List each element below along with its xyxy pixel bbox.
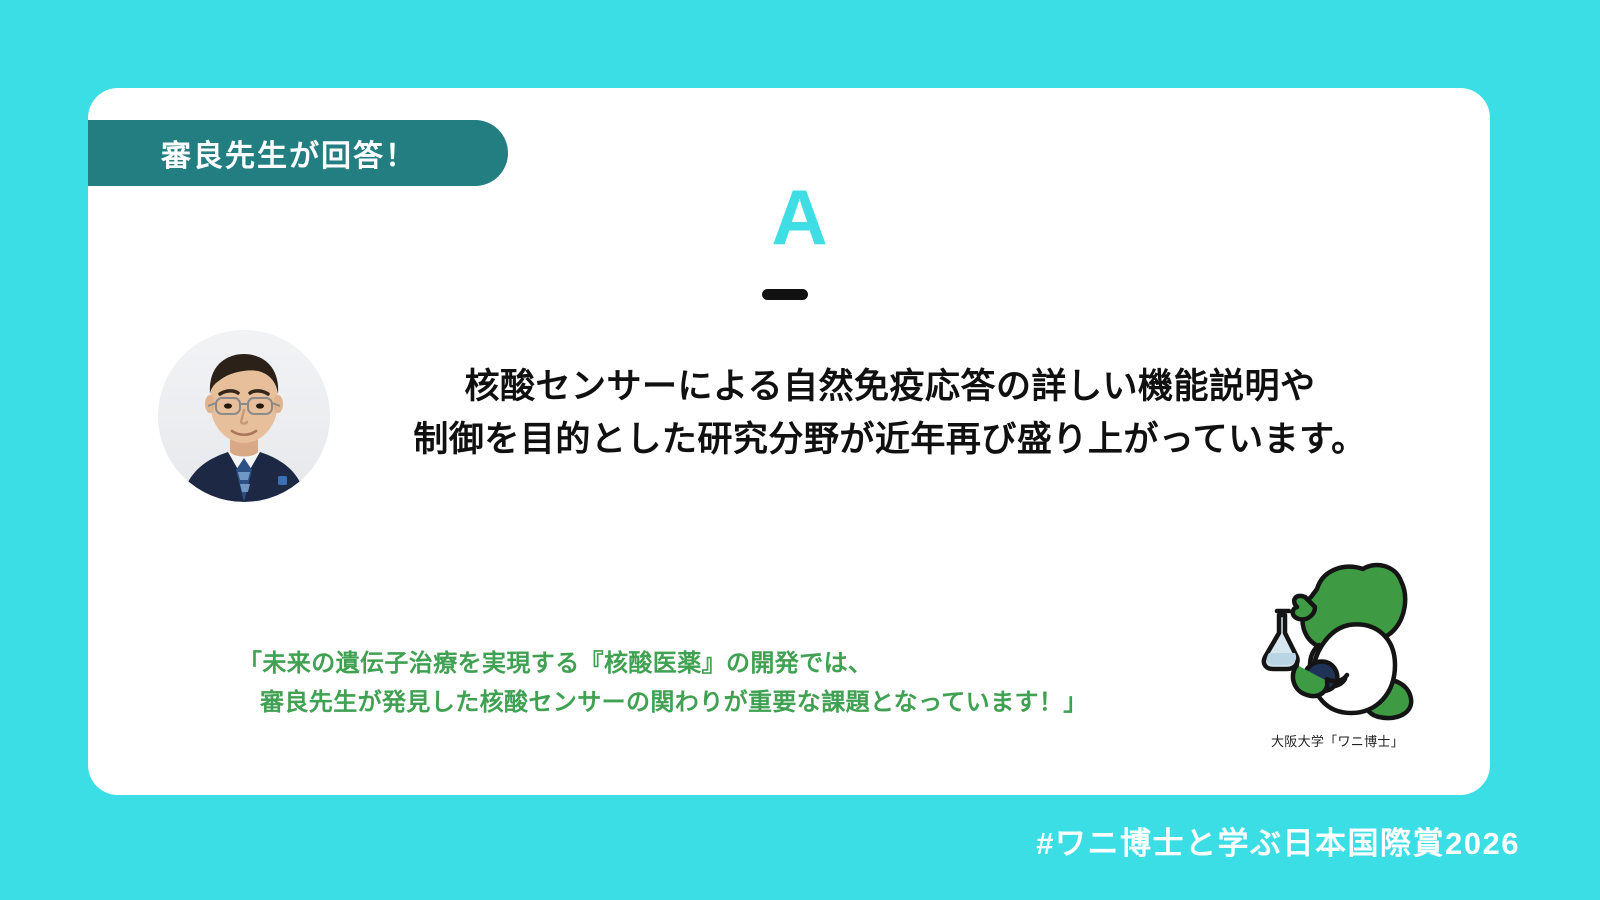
answer-letter: A: [0, 178, 1600, 256]
avatar: [158, 330, 330, 502]
mascot-crocodile-icon: [1253, 553, 1421, 728]
answer-line-2: 制御を目的とした研究分野が近年再び盛り上がっています。: [330, 413, 1450, 466]
mascot-caption: 大阪大学「ワニ博士」: [1230, 731, 1445, 750]
answer-line-1: 核酸センサーによる自然免疫応答の詳しい機能説明や: [330, 360, 1450, 413]
answerer-badge-label: 審良先生が回答！: [161, 131, 417, 175]
wani-hakase-illustration: [1253, 553, 1421, 728]
quote-block: 「未来の遺伝子治療を実現する『核酸医薬』の開発では、 審良先生が発見した核酸セン…: [238, 645, 1298, 723]
portrait-photo: [158, 330, 330, 502]
quote-line-2: 審良先生が発見した核酸センサーの関わりが重要な課題となっています！」: [238, 684, 1298, 723]
quote-line-1: 「未来の遺伝子治療を実現する『核酸医薬』の開発では、: [238, 645, 1298, 684]
poster-canvas: 審良先生が回答！ A: [0, 0, 1600, 900]
divider-dash: [762, 289, 808, 300]
answerer-badge: 審良先生が回答！: [88, 120, 508, 186]
hashtag-label: #ワニ博士と学ぶ日本国際賞2026: [1020, 818, 1520, 863]
answer-body: 核酸センサーによる自然免疫応答の詳しい機能説明や 制御を目的とした研究分野が近年…: [330, 360, 1450, 466]
